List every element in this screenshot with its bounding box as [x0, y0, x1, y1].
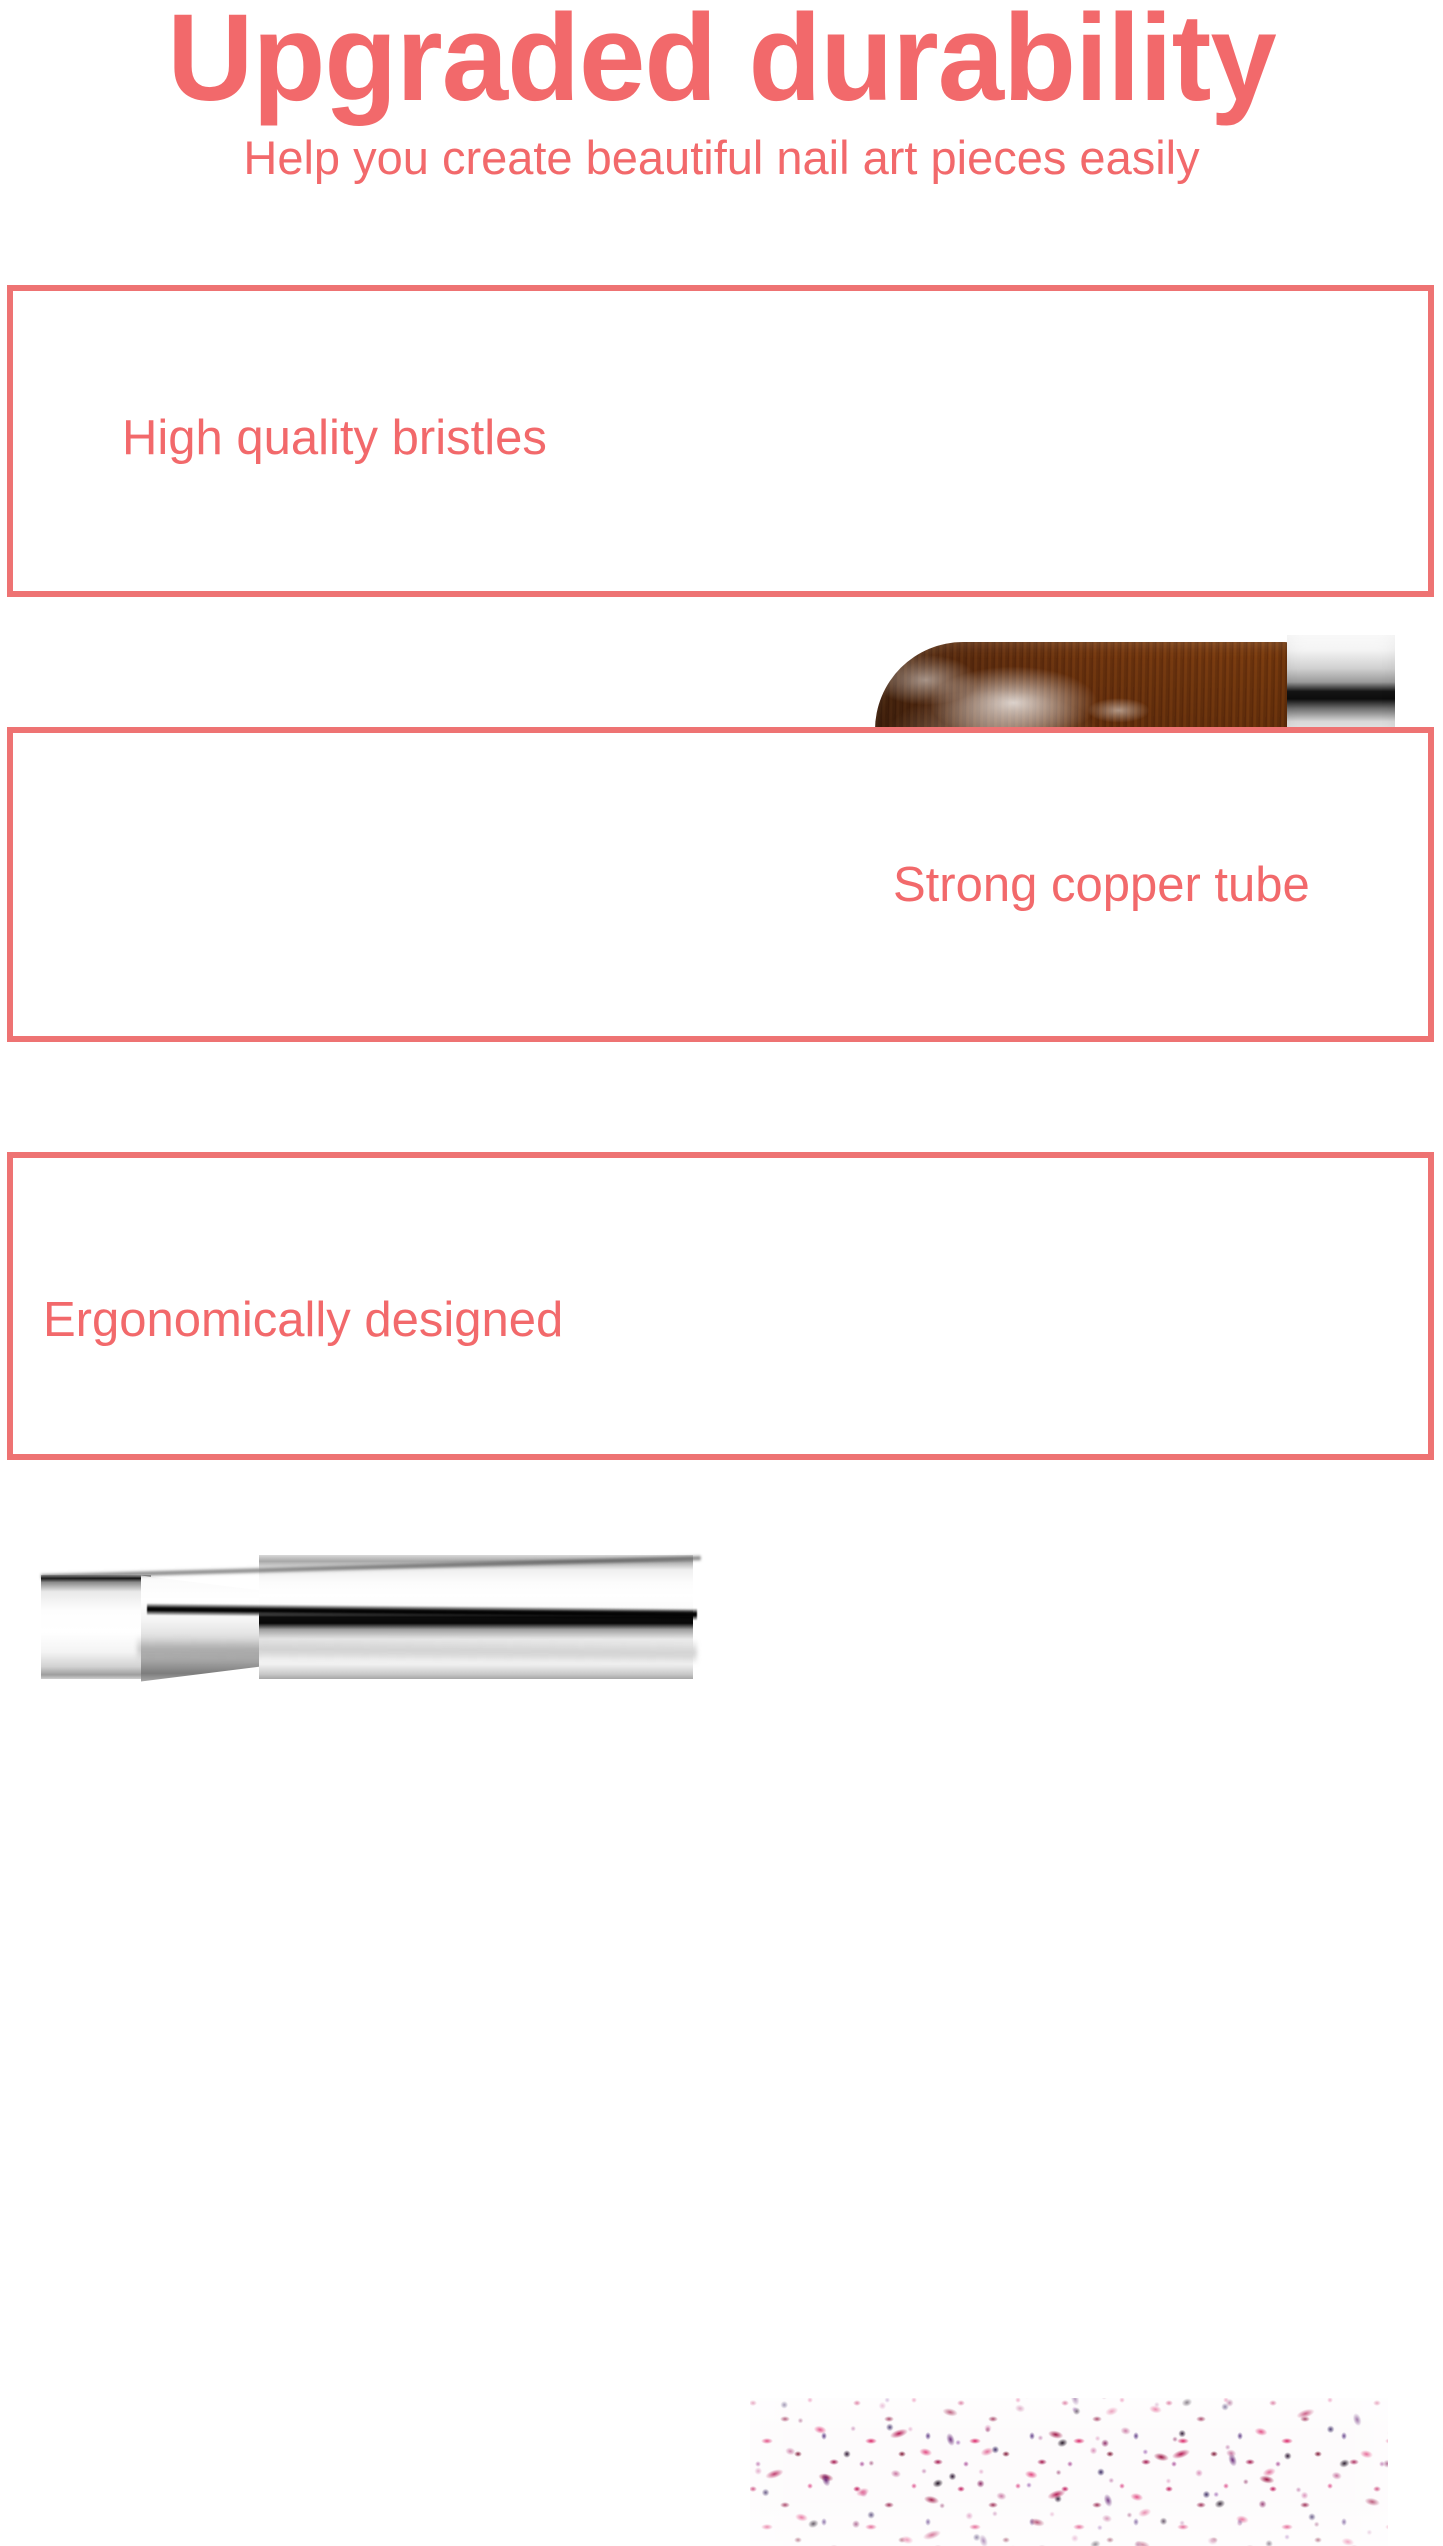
feature-label-ergonomic-handle: Ergonomically designed	[43, 1296, 563, 1345]
feature-label-copper-tube: Strong copper tube	[893, 861, 1310, 910]
feature-label-bristles: High quality bristles	[122, 414, 547, 463]
page-subtitle: Help you create beautiful nail art piece…	[0, 133, 1443, 182]
glitter-handle-photo	[750, 2398, 1388, 2546]
page-title: Upgraded durability	[22, 0, 1422, 123]
copper-tube-photo	[41, 1547, 693, 1687]
header-banner: Upgraded durability Help you create beau…	[0, 0, 1443, 200]
glitter-highlight-veil	[750, 2398, 1388, 2546]
tube-tip-graphic	[41, 1575, 151, 1679]
tube-bottom-shading	[137, 1635, 697, 1665]
